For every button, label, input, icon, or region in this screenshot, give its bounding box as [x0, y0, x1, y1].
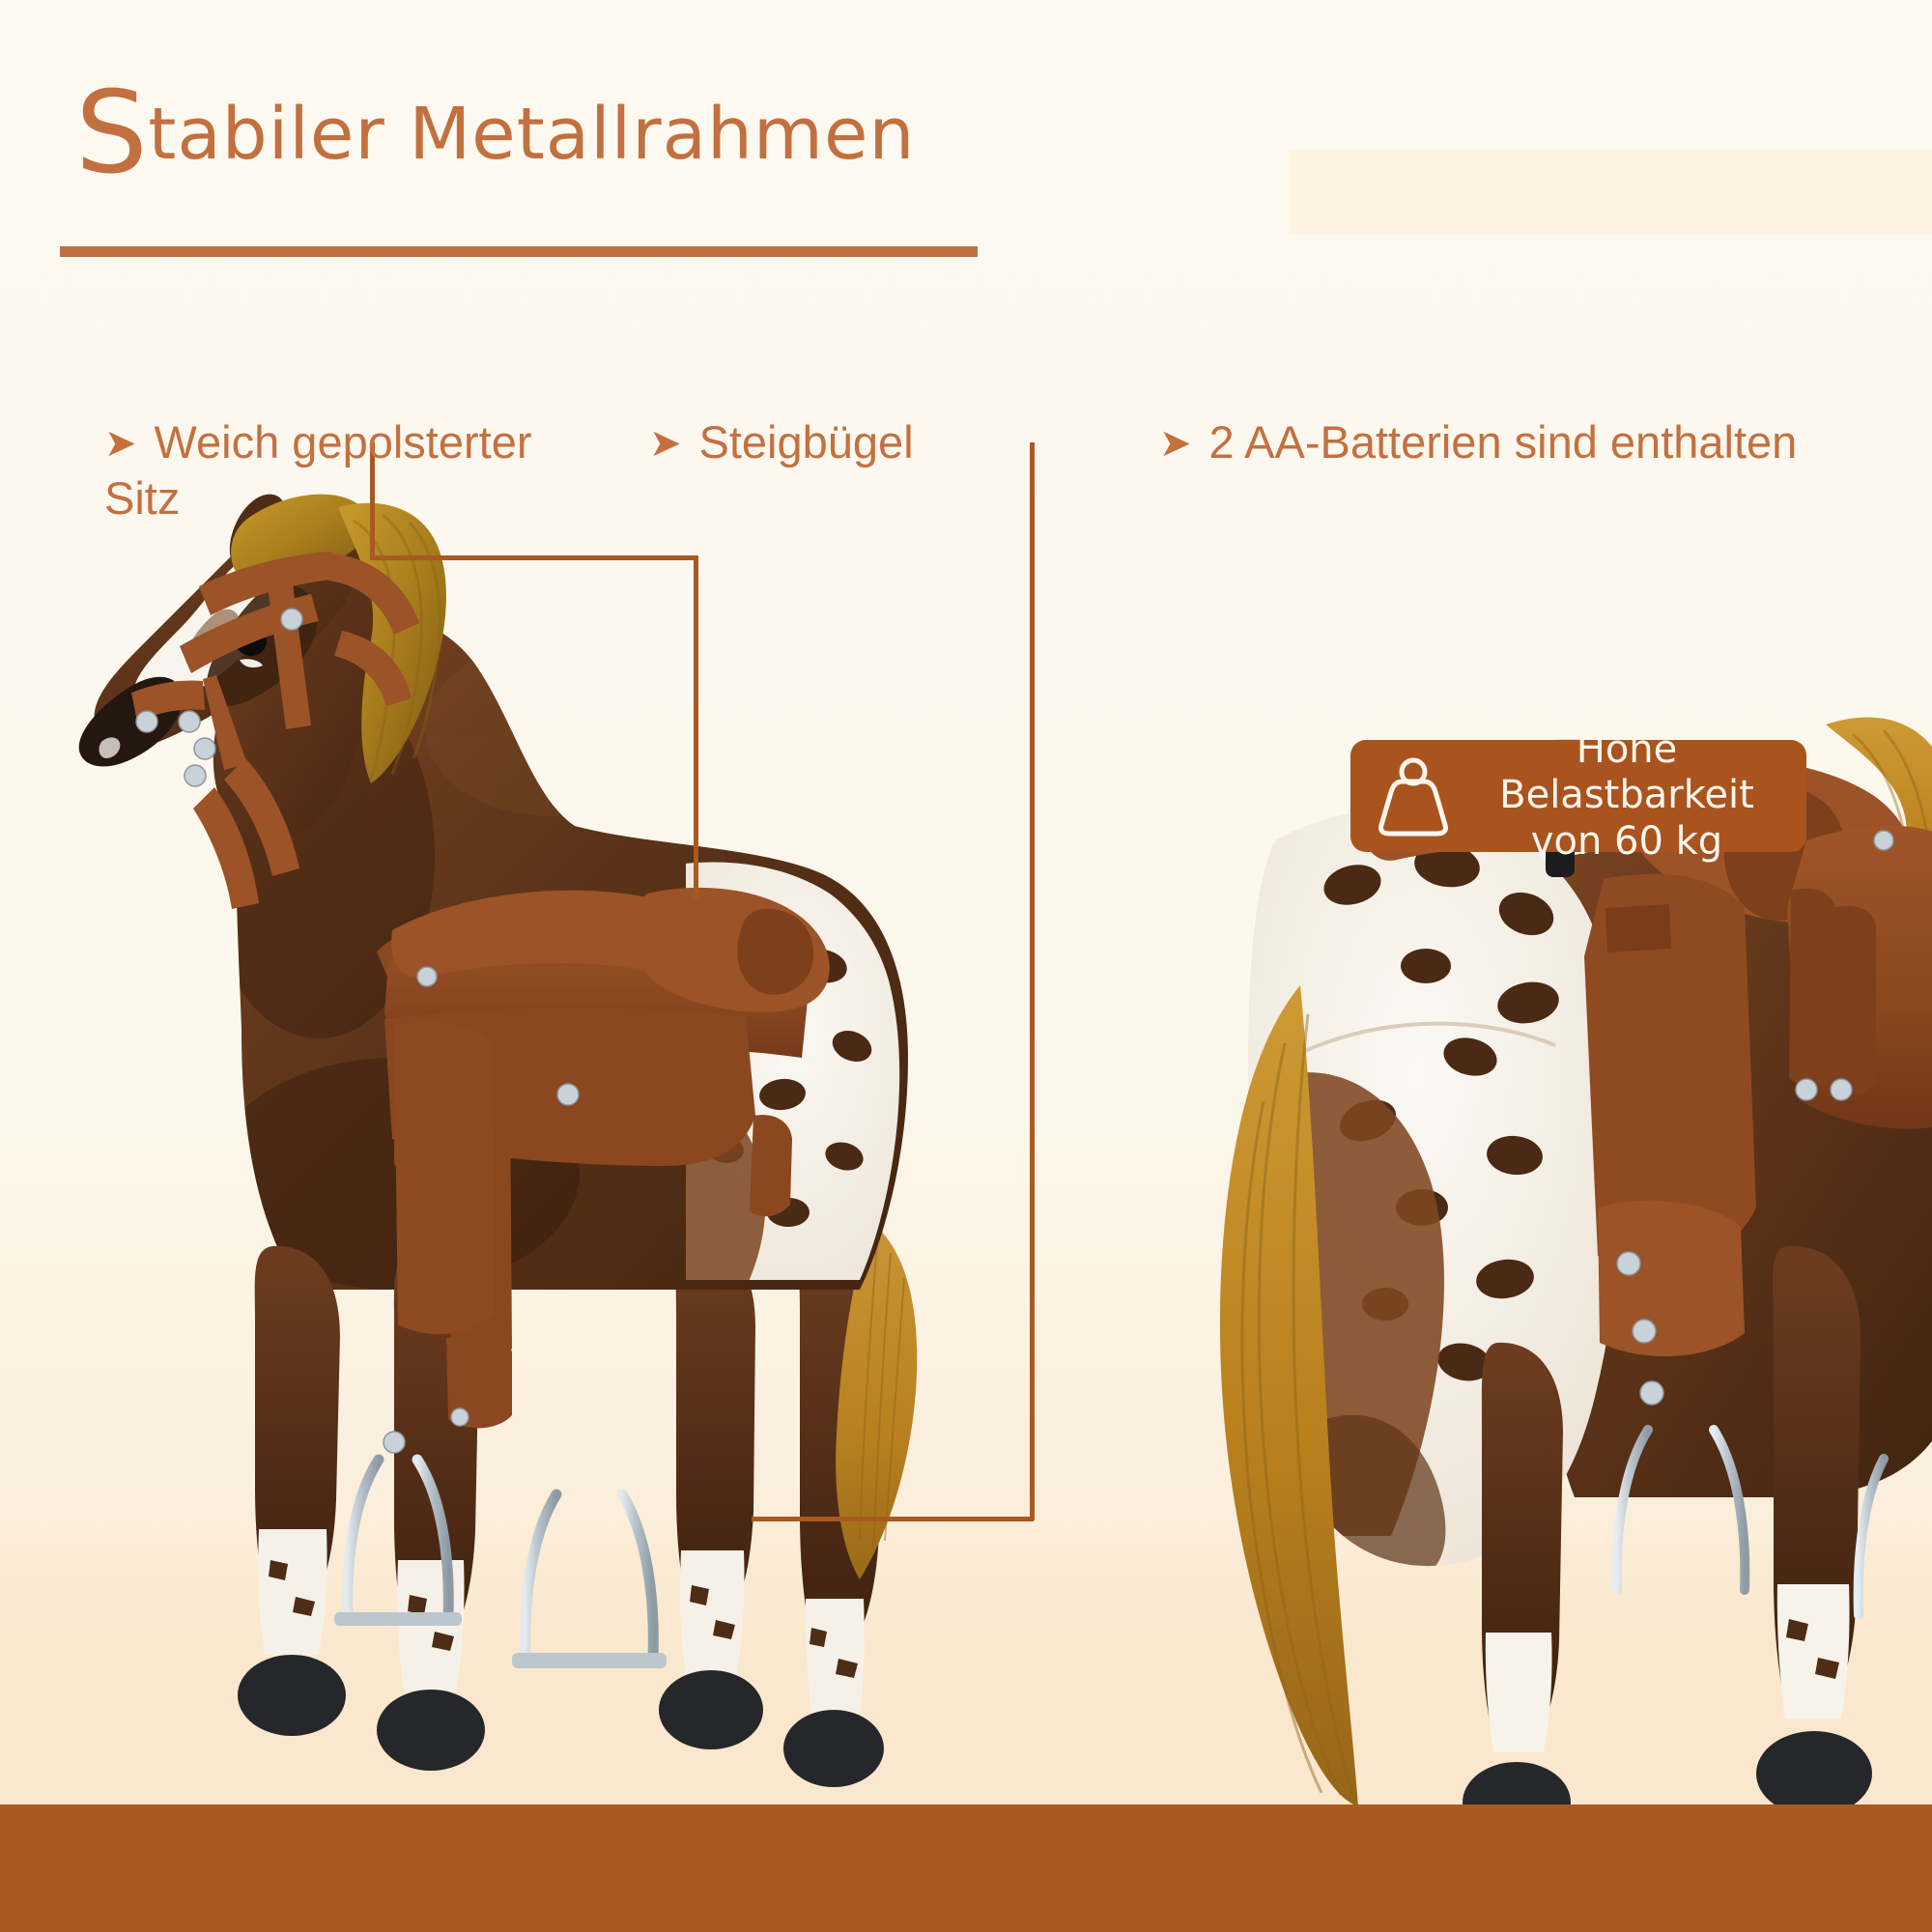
page-title: Stabiler Metallrahmen [75, 75, 915, 189]
feature-label-stirrups-text: Steigbügel [699, 416, 914, 468]
page-title-rest: tabiler Metallrahmen [148, 93, 915, 176]
feature-label-batteries: ➤2 AA-Batterien sind enthalten [1159, 359, 1922, 470]
stirrup [342, 1460, 659, 1661]
feature-label-padded-seat: ➤Weich gepolsterter Sitz [104, 359, 607, 526]
infographic-canvas: Stabiler Metallrahmen ➤Weich gepolsterte… [0, 0, 1932, 1932]
leader-line-seat-horizontal [370, 555, 698, 560]
feature-label-batteries-text: 2 AA-Batterien sind enthalten [1209, 416, 1798, 468]
leader-line-stirrup-vertical [1030, 442, 1035, 1520]
arrow-bullet-icon: ➤ [104, 420, 137, 468]
stirrup-plate [334, 1612, 667, 1668]
page-title-dropcap: S [75, 66, 148, 199]
feature-label-stirrups: ➤Steigbügel [649, 359, 968, 470]
arrow-bullet-icon: ➤ [649, 420, 682, 468]
weight-icon [1376, 755, 1451, 837]
bottom-accent-bar [0, 1804, 1932, 1932]
product-image-primary [10, 440, 1150, 1850]
leader-line-stirrup-horizontal [752, 1517, 1034, 1521]
load-capacity-badge: Hohe Belastbarkeit von 60 kg [1350, 740, 1806, 852]
arrow-bullet-icon: ➤ [1159, 420, 1192, 468]
title-underline [60, 246, 978, 257]
load-capacity-text: Hohe Belastbarkeit von 60 kg [1472, 727, 1781, 865]
feature-label-padded-seat-text: Weich gepolsterter Sitz [104, 416, 532, 523]
header-accent-band [1290, 150, 1932, 235]
leader-line-seat-vertical-2 [694, 555, 698, 898]
